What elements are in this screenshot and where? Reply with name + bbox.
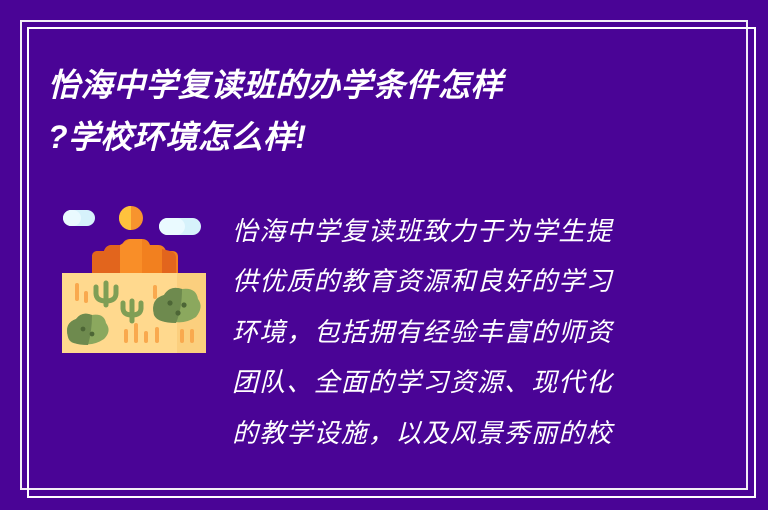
grass-tick <box>180 329 184 343</box>
title-line-2: ?学校环境怎么样! <box>48 112 708 164</box>
grass-tick <box>155 327 159 343</box>
body-line-3: 环境，包括拥有经验丰富的师资 <box>232 308 652 358</box>
article-card: 怡海中学复读班的办学条件怎样 ?学校环境怎么样! <box>0 0 768 510</box>
body-line-2: 供优质的教育资源和良好的学习 <box>232 257 652 307</box>
cloud-left-highlight <box>63 210 81 226</box>
grass-tick <box>144 331 148 343</box>
bush-dot <box>81 327 86 332</box>
article-body: 怡海中学复读班致力于为学生提 供优质的教育资源和良好的学习 环境，包括拥有经验丰… <box>232 207 652 459</box>
page-title: 怡海中学复读班的办学条件怎样 ?学校环境怎么样! <box>48 60 708 164</box>
mesa-highlight <box>120 239 142 277</box>
cloud-right-highlight <box>159 218 185 235</box>
illustration-svg <box>58 205 210 355</box>
grass-tick <box>153 285 157 299</box>
body-line-4: 团队、全面的学习资源、现代化 <box>232 358 652 408</box>
bush-dot <box>175 310 180 315</box>
grass-tick <box>124 329 128 343</box>
grass-tick <box>75 283 79 301</box>
bush-dot <box>167 300 172 305</box>
bush-dot <box>181 302 186 307</box>
bush-dot <box>90 332 95 337</box>
title-line-1: 怡海中学复读班的办学条件怎样 <box>48 60 708 112</box>
desert-landscape-illustration <box>58 205 210 355</box>
grass-tick <box>84 291 88 303</box>
body-line-5: 的教学设施，以及风景秀丽的校 <box>232 409 652 459</box>
body-line-1: 怡海中学复读班致力于为学生提 <box>232 207 652 257</box>
grass-tick <box>190 329 194 343</box>
grass-tick <box>134 323 138 343</box>
mesa-shadow-right <box>162 249 176 277</box>
